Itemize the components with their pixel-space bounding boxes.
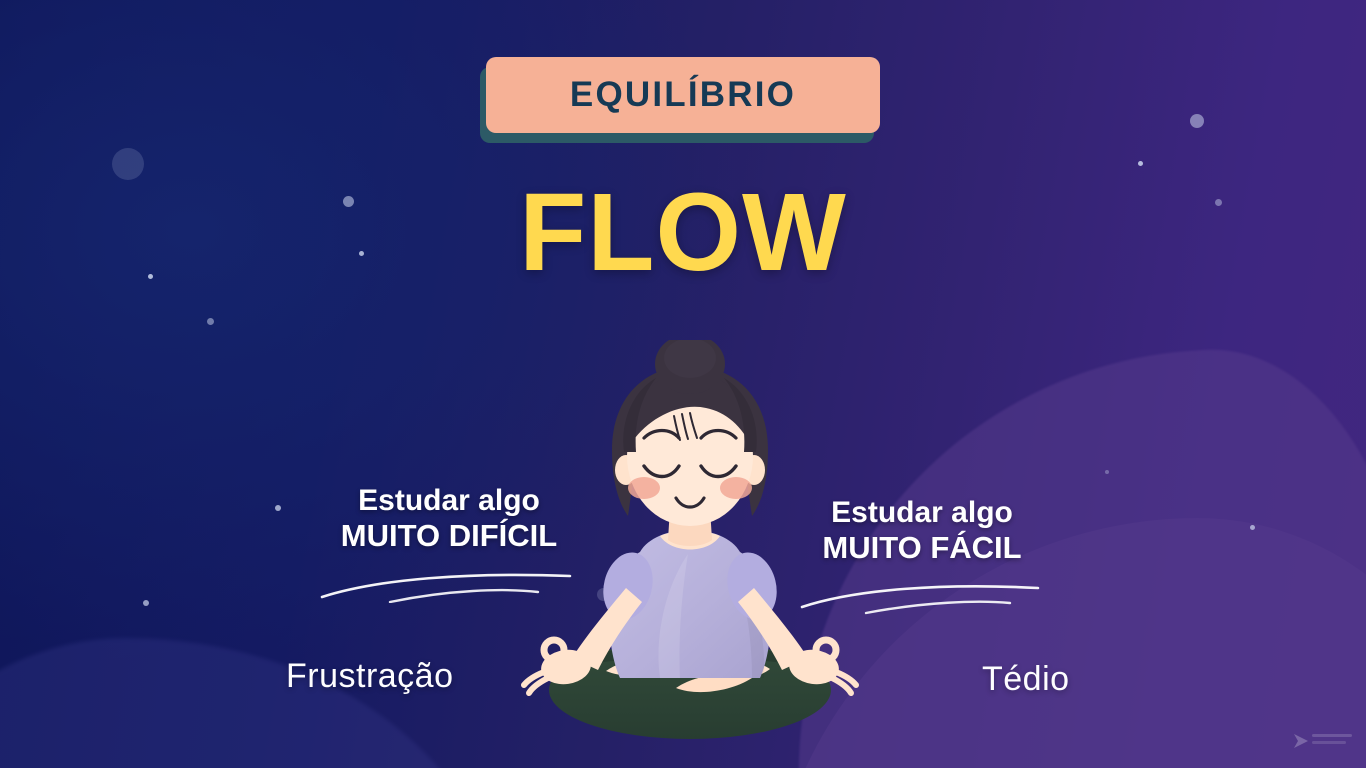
head [612, 340, 768, 526]
emotion-label-right: Tédio [982, 660, 1070, 699]
star-dot [1138, 161, 1143, 166]
star-dot [275, 505, 281, 511]
watermark-logo [1288, 728, 1358, 754]
emotion-label-left: Frustração [286, 657, 454, 696]
badge-label: EQUILÍBRIO [570, 75, 796, 115]
star-dot [1105, 470, 1109, 474]
star-dot [143, 600, 149, 606]
slide-canvas: EQUILÍBRIO FLOW Estudar algo MUITO DIFÍC… [0, 0, 1366, 768]
star-dot [207, 318, 214, 325]
equilibrio-badge: EQUILÍBRIO [486, 57, 880, 133]
star-dot [112, 148, 144, 180]
equilibrio-badge-container: EQUILÍBRIO [0, 57, 1366, 133]
meditating-woman-illustration [520, 340, 860, 740]
page-title: FLOW [0, 178, 1366, 288]
star-dot [1250, 525, 1255, 530]
